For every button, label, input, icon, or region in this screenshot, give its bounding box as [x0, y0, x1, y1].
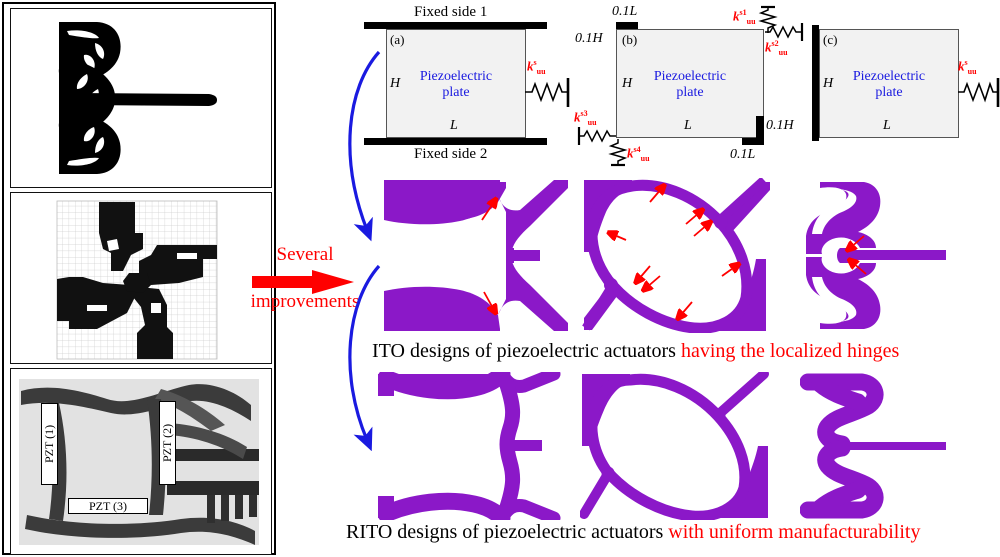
schematic-b-spring-s2-label: ks2uu: [765, 40, 788, 57]
schematic-b-spring-s4-label: ks4uu: [627, 146, 650, 163]
schematic-b-spring-s1-label: ks1uu: [733, 9, 756, 26]
pzt-experimental-prototype-image: PZT (1) PZT (2) PZT (3): [10, 368, 272, 555]
ito-design-b: [580, 178, 770, 333]
k-sup-c: s: [965, 58, 968, 67]
k-sub-c: uu: [968, 67, 977, 76]
schematic-b-plate-label: Piezoelectric plate: [638, 69, 742, 101]
schematic-a-tag: (a): [390, 33, 404, 46]
k-sup-s4: s4: [634, 145, 641, 154]
schematic-b-dim-bot-hgt: 0.1H: [766, 119, 794, 133]
k-sub-s1: uu: [747, 17, 756, 26]
spring-right-c-icon: [957, 76, 1000, 110]
figure-root: PZT (1) PZT (2) PZT (3) Several improvem…: [0, 0, 1000, 557]
k-sub-s3: uu: [588, 118, 597, 127]
pzt-tag-3: PZT (3): [68, 498, 148, 514]
k-sub-s2: uu: [779, 48, 788, 57]
ito-design-a: [378, 178, 568, 333]
schematic-b-dim-top-hgt: 0.1H: [575, 32, 603, 46]
improvements-line1: Several: [277, 244, 334, 265]
schematic-b-dim-bot-len: 0.1L: [730, 148, 755, 162]
spring-right-a-icon: [524, 76, 572, 110]
schematic-a-spring-label: ksuu: [527, 59, 546, 76]
schematic-c-plate-label-line1: Piezoelectric: [853, 69, 925, 84]
rito-design-c: [800, 372, 980, 520]
pixelated-topology-grid-image: [10, 192, 272, 364]
schematic-b-bottom-right-support-v: [756, 116, 764, 138]
schematic-b-dim-top-len: 0.1L: [612, 5, 637, 19]
schematic-c-height-label: H: [823, 77, 833, 91]
k-sub-a: uu: [537, 67, 546, 76]
ito-caption-plain: ITO designs of piezoelectric actuators: [372, 340, 681, 362]
spring-s4-icon: [608, 138, 628, 168]
schematic-a-plate-label-line2: plate: [442, 85, 469, 100]
pzt-tag-2: PZT (2): [159, 401, 176, 485]
ito-caption-highlight: having the localized hinges: [681, 340, 899, 362]
ito-design-c: [800, 178, 980, 333]
schematic-a-bottom-support-label: Fixed side 2: [414, 147, 487, 162]
schematic-a-height-label: H: [390, 77, 400, 91]
schematic-b-top-left-support: [616, 22, 638, 29]
schematic-c-plate-label: Piezoelectric plate: [837, 69, 941, 101]
schematic-a-plate-label: Piezoelectric plate: [404, 69, 508, 101]
schematic-c-left-support: [812, 25, 819, 141]
ito-caption: ITO designs of piezoelectric actuators h…: [372, 340, 899, 363]
schematic-c-plate-label-line2: plate: [875, 85, 902, 100]
rito-design-b: [580, 372, 770, 520]
pixelated-topology-svg: [11, 193, 271, 363]
schematic-b-plate-label-line1: Piezoelectric: [654, 69, 726, 84]
rito-caption: RITO designs of piezoelectric actuators …: [346, 521, 920, 544]
schematic-a-length-label: L: [450, 119, 458, 133]
rito-caption-plain: RITO designs of piezoelectric actuators: [346, 521, 668, 543]
k-sup-s2: s2: [772, 39, 779, 48]
schematic-b-height-label: H: [622, 77, 632, 91]
k-sup-a: s: [534, 58, 537, 67]
schematic-b-tag: (b): [622, 33, 637, 46]
k-sub-s4: uu: [641, 154, 650, 163]
schematic-c-length-label: L: [883, 119, 891, 133]
schematic-c-tag: (c): [823, 33, 837, 46]
k-sup-s3: s3: [581, 109, 588, 118]
schematic-a-top-support: [364, 22, 547, 29]
schematic-b-spring-s3-label: ks3uu: [574, 110, 597, 127]
schematic-b-bottom-right-support: [742, 138, 764, 145]
schematic-b-length-label: L: [684, 119, 692, 133]
compliant-mechanism-smooth-svg: [11, 9, 271, 187]
rito-design-a: [378, 372, 568, 520]
rito-caption-highlight: with uniform manufacturability: [668, 521, 920, 543]
schematic-a-bottom-support: [364, 138, 547, 145]
schematic-c-spring-label: ksuu: [958, 59, 977, 76]
schematic-b-plate-label-line2: plate: [676, 85, 703, 100]
schematic-a-plate-label-line1: Piezoelectric: [420, 69, 492, 84]
compliant-mechanism-smooth-image: [10, 8, 272, 188]
schematic-a-top-support-label: Fixed side 1: [414, 5, 487, 20]
k-sup-s1: s1: [740, 8, 747, 17]
left-panel: PZT (1) PZT (2) PZT (3): [2, 2, 276, 555]
pzt-tag-1: PZT (1): [41, 403, 58, 485]
